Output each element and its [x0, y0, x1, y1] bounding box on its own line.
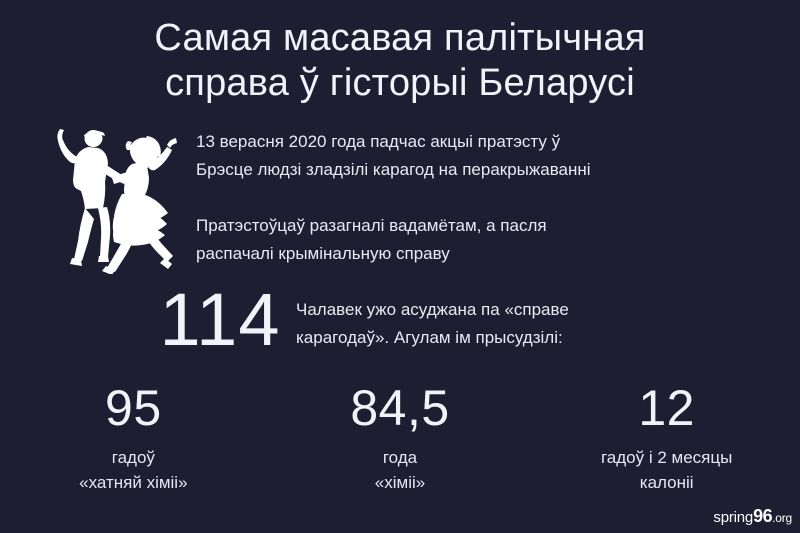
stat-label-2: года «хіміі» — [267, 445, 534, 495]
stat-label-1-line-2: «хатняй хіміі» — [0, 470, 267, 495]
stat-value-3: 12 — [533, 378, 800, 438]
logo-text-96: 96 — [753, 506, 772, 526]
intro-paragraph-2: Пратэстоўцаў разагналі вадамётам, а пасл… — [196, 212, 756, 268]
stat-label-1-line-1: гадоў — [0, 445, 267, 470]
stat-column-home-chemistry: 95 гадоў «хатняй хіміі» — [0, 378, 267, 495]
stat-value-1: 95 — [0, 378, 267, 438]
dancing-couple-silhouette-icon — [44, 116, 186, 274]
stat-value-2: 84,5 — [267, 378, 534, 438]
statistics-row: 95 гадоў «хатняй хіміі» 84,5 года «хіміі… — [0, 378, 800, 495]
paragraph-2-line-1: Пратэстоўцаў разагналі вадамётам, а пасл… — [196, 212, 756, 240]
highlight-line-1: Чалавек ужо асуджана па «справе — [296, 296, 766, 324]
title-line-1: Самая масавая палітычная — [0, 16, 800, 61]
spring96-logo[interactable]: spring96.org — [713, 507, 792, 527]
highlight-line-2: карагодаў». Агулам ім прысудзілі: — [296, 324, 766, 352]
stat-label-3: гадоў і 2 месяцы калоніі — [533, 445, 800, 495]
paragraph-1-line-2: Брэсце людзі зладзілі карагод на перакры… — [196, 156, 756, 184]
stat-label-3-line-2: калоніі — [533, 470, 800, 495]
logo-text-org: .org — [772, 511, 792, 525]
stat-label-2-line-1: года — [267, 445, 534, 470]
intro-paragraph-1: 13 верасня 2020 года падчас акцыі пратэс… — [196, 128, 756, 184]
stat-column-chemistry: 84,5 года «хіміі» — [267, 378, 534, 495]
highlight-number-value: 114 — [150, 282, 290, 358]
stat-label-2-line-2: «хіміі» — [267, 470, 534, 495]
page-title: Самая масавая палітычная справа ў гістор… — [0, 16, 800, 106]
infographic-canvas: { "theme": { "background": "#1e1e33", "t… — [0, 0, 800, 533]
highlight-description: Чалавек ужо асуджана па «справе карагода… — [296, 296, 766, 352]
stat-label-3-line-1: гадоў і 2 месяцы — [533, 445, 800, 470]
stat-label-1: гадоў «хатняй хіміі» — [0, 445, 267, 495]
paragraph-1-line-1: 13 верасня 2020 года падчас акцыі пратэс… — [196, 128, 756, 156]
highlight-statistic: 114 Чалавек ужо асуджана па «справе кара… — [0, 286, 800, 362]
title-line-2: справа ў гісторыі Беларусі — [0, 61, 800, 106]
logo-text-spring: spring — [713, 509, 753, 526]
stat-column-colony: 12 гадоў і 2 месяцы калоніі — [533, 378, 800, 495]
paragraph-2-line-2: распачалі крымінальную справу — [196, 240, 756, 268]
